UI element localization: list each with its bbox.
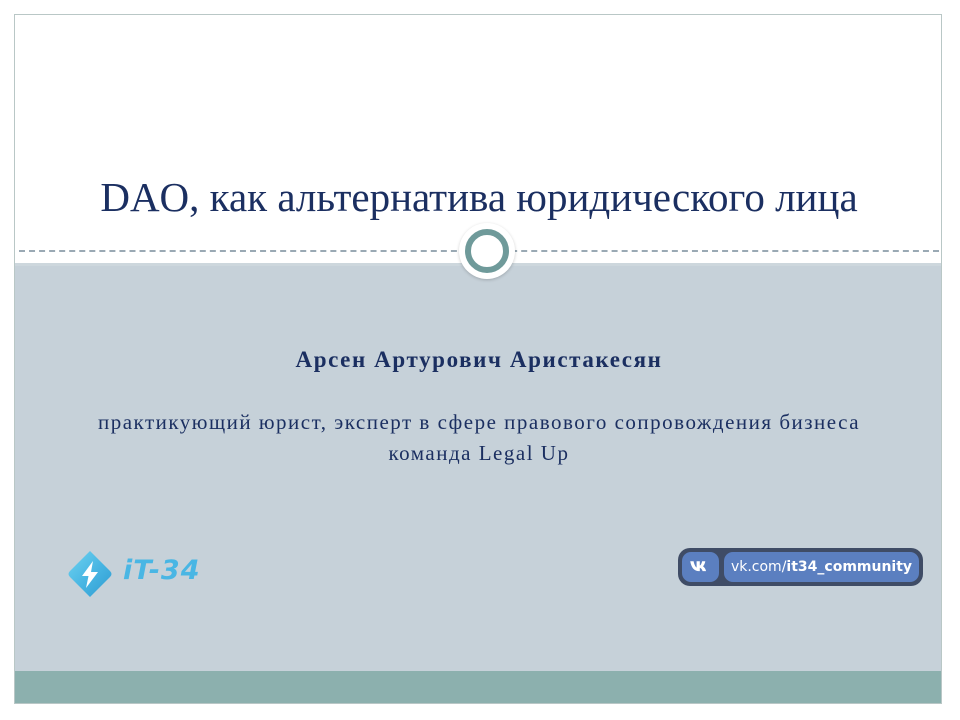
presenter-role: практикующий юрист, эксперт в сфере прав… [75,407,883,469]
lightning-bolt-diamond-icon [65,549,115,599]
presenter-info-block: Арсен Артурович Аристакесян практикующий… [75,345,883,469]
circle-ring-ornament-icon [459,223,515,279]
slide-foot-accent-band [15,671,941,704]
presentation-slide: DAO, как альтернатива юридического лица … [14,14,942,704]
circle-ring-inner [465,229,509,273]
it34-wordmark: iT-34 [123,555,200,586]
vk-url-prefix: vk.com/ [731,559,786,575]
vk-logo-icon [682,552,719,582]
vk-url-label[interactable]: vk.com/it34_community [724,552,919,582]
vk-glyph [689,559,713,575]
it34-logo: iT-34 [57,543,257,605]
vk-community-badge[interactable]: vk.com/it34_community [678,548,923,586]
presenter-name: Арсен Артурович Аристакесян [75,345,883,375]
slide-title: DAO, как альтернатива юридического лица [14,173,942,221]
vk-url-handle: it34_community [786,559,912,575]
